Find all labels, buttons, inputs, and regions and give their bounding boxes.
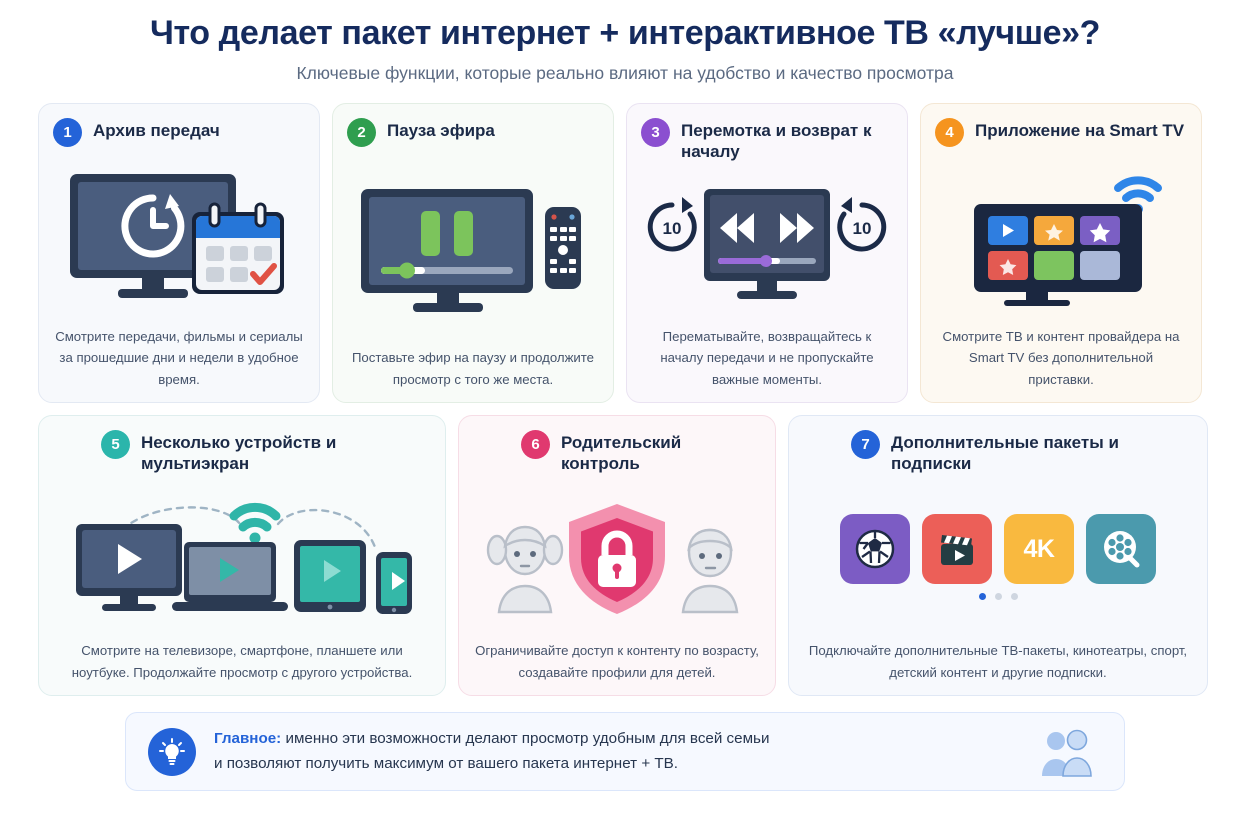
feature-row-1: 1 Архив передач <box>0 103 1250 403</box>
footer-wrap: Главное: именно эти возможности делают п… <box>0 712 1250 791</box>
tile-4k[interactable]: 4K <box>1004 514 1074 584</box>
feature-card-rewind[interactable]: 3 Перемотка и возврат к началу 10 <box>626 103 908 403</box>
card-header: 4 Приложение на Smart TV <box>935 118 1187 147</box>
feature-row-2: 5 Несколько устройств и мультиэкран <box>0 415 1250 696</box>
card-number-badge: 3 <box>641 118 670 147</box>
card-description: Смотрите на телевизоре, смартфоне, планш… <box>53 640 431 683</box>
device-laptop <box>172 542 288 611</box>
carousel-dot-1[interactable] <box>979 593 986 600</box>
card-title: Несколько устройств и мультиэкран <box>141 430 431 474</box>
child-boy-avatar <box>683 530 737 612</box>
card-header: 2 Пауза эфира <box>347 118 599 147</box>
feature-card-parental-control[interactable]: 6 Родительский контроль <box>458 415 776 696</box>
card-header: 1 Архив передач <box>53 118 305 147</box>
infographic-page: Что делает пакет интернет + интерактивно… <box>0 0 1250 833</box>
device-tv <box>76 524 182 611</box>
card-title: Родительский контроль <box>561 430 761 474</box>
wifi-icon <box>234 508 276 544</box>
card-number-badge: 2 <box>347 118 376 147</box>
card-title: Пауза эфира <box>387 118 495 142</box>
card-description: Смотрите ТВ и контент провайдера на Smar… <box>935 326 1187 390</box>
tile-sport[interactable] <box>840 514 910 584</box>
multi-device-wifi-icon <box>62 494 422 620</box>
illustration-tv-rewind: 10 10 <box>641 167 893 320</box>
card-header: 3 Перемотка и возврат к началу <box>641 118 893 162</box>
tile-cinema[interactable] <box>922 514 992 584</box>
illustration-smart-tv-apps <box>935 151 1187 320</box>
tv-clock-calendar-icon <box>64 168 294 303</box>
shield-lock-kids-icon <box>481 498 753 616</box>
card-description: Поставьте эфир на паузу и продолжите про… <box>347 347 599 390</box>
skip-back-label: 10 <box>663 219 682 238</box>
page-title: Что делает пакет интернет + интерактивно… <box>0 14 1250 52</box>
summary-line-1: именно эти возможности делают просмотр у… <box>281 730 769 747</box>
summary-text: Главное: именно эти возможности делают п… <box>214 727 1014 776</box>
lightbulb-badge <box>148 728 196 776</box>
illustration-tv-pause-remote <box>347 151 599 341</box>
shield-lock <box>569 504 665 614</box>
carousel-dot-2[interactable] <box>995 593 1002 600</box>
page-subtitle: Ключевые функции, которые реально влияют… <box>0 63 1250 84</box>
feature-card-archive[interactable]: 1 Архив передач <box>38 103 320 403</box>
summary-line-2: и позволяют получить максимум от вашего … <box>214 755 678 772</box>
card-title: Перемотка и возврат к началу <box>681 118 893 162</box>
card-description: Ограничивайте доступ к контенту по возра… <box>473 640 761 683</box>
carousel-dots[interactable] <box>979 593 1018 600</box>
two-people-icon <box>1032 728 1102 778</box>
illustration-parental-control <box>473 475 761 641</box>
card-description: Перематывайте, возвращайтесь к началу пе… <box>641 326 893 390</box>
card-header: 5 Несколько устройств и мультиэкран <box>53 430 431 474</box>
card-number-badge: 7 <box>851 430 880 459</box>
tile-4k-label: 4K <box>1024 535 1055 564</box>
app-tile-grey <box>1080 251 1120 280</box>
card-title: Приложение на Smart TV <box>975 118 1184 142</box>
lightbulb-icon <box>157 737 187 767</box>
feature-card-pause[interactable]: 2 Пауза эфира <box>332 103 614 403</box>
card-header: 6 Родительский контроль <box>473 430 761 474</box>
subscription-tile-row: 4K <box>840 514 1156 584</box>
smart-tv-apps-wifi-icon <box>946 166 1176 306</box>
carousel-dot-3[interactable] <box>1011 593 1018 600</box>
feature-card-multiscreen[interactable]: 5 Несколько устройств и мультиэкран <box>38 415 446 696</box>
app-tile-green <box>1034 251 1074 280</box>
card-title: Архив передач <box>93 118 220 142</box>
device-tablet <box>294 540 366 612</box>
child-girl-avatar <box>488 527 562 612</box>
card-description: Смотрите передачи, фильмы и сериалы за п… <box>53 326 305 390</box>
card-number-badge: 5 <box>101 430 130 459</box>
skip-forward-10-icon: 10 <box>840 197 884 249</box>
football-icon <box>853 527 897 571</box>
tv-rewind-forward-icon: 10 10 <box>642 183 892 303</box>
clapperboard-icon <box>935 527 979 571</box>
skip-back-10-icon: 10 <box>650 197 694 249</box>
card-number-badge: 4 <box>935 118 964 147</box>
device-phone <box>376 552 412 614</box>
header: Что делает пакет интернет + интерактивно… <box>0 0 1250 84</box>
people-illustration <box>1032 728 1102 776</box>
tv-pause-remote-icon <box>357 179 589 314</box>
illustration-tv-clock-calendar <box>53 151 305 320</box>
card-title: Дополнительные пакеты и подписки <box>891 430 1193 474</box>
illustration-multi-device <box>53 475 431 641</box>
card-number-badge: 6 <box>521 430 550 459</box>
film-reel-icon <box>1099 527 1143 571</box>
illustration-subscription-tiles: 4K <box>803 475 1193 641</box>
feature-card-smart-tv[interactable]: 4 Приложение на Smart TV <box>920 103 1202 403</box>
tile-film[interactable] <box>1086 514 1156 584</box>
feature-card-subscriptions[interactable]: 7 Дополнительные пакеты и подписки <box>788 415 1208 696</box>
summary-banner: Главное: именно эти возможности делают п… <box>125 712 1125 791</box>
card-number-badge: 1 <box>53 118 82 147</box>
summary-lead: Главное: <box>214 730 281 747</box>
card-description: Подключайте дополнительные ТВ-пакеты, ки… <box>803 640 1193 683</box>
skip-forward-label: 10 <box>853 219 872 238</box>
card-header: 7 Дополнительные пакеты и подписки <box>803 430 1193 474</box>
